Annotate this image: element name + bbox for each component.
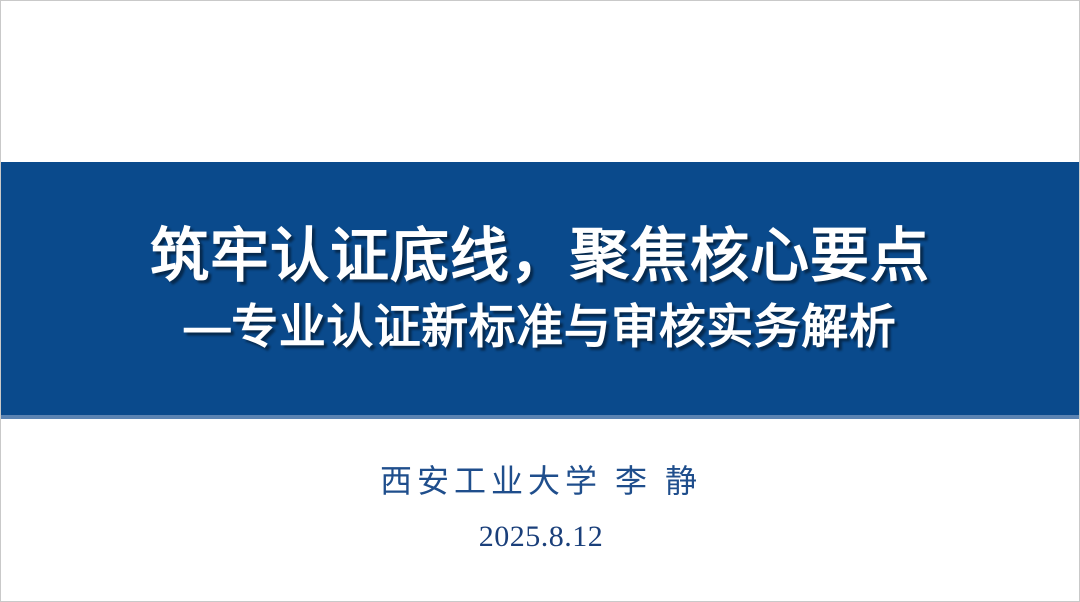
slide-top-spacer [1,1,1080,162]
slide-byline-area: 西安工业大学 李 静 2025.8.12 [1,423,1080,601]
slide-main-title: 筑牢认证底线，聚焦核心要点 [150,226,930,288]
title-banner: 筑牢认证底线，聚焦核心要点 —专业认证新标准与审核实务解析 [0,162,1080,419]
slide-subtitle: —专业认证新标准与审核实务解析 [184,302,897,351]
presentation-date: 2025.8.12 [479,520,604,554]
presentation-slide: 筑牢认证底线，聚焦核心要点 —专业认证新标准与审核实务解析 西安工业大学 李 静… [0,0,1080,602]
presenter-affiliation-and-name: 西安工业大学 李 静 [380,456,702,502]
